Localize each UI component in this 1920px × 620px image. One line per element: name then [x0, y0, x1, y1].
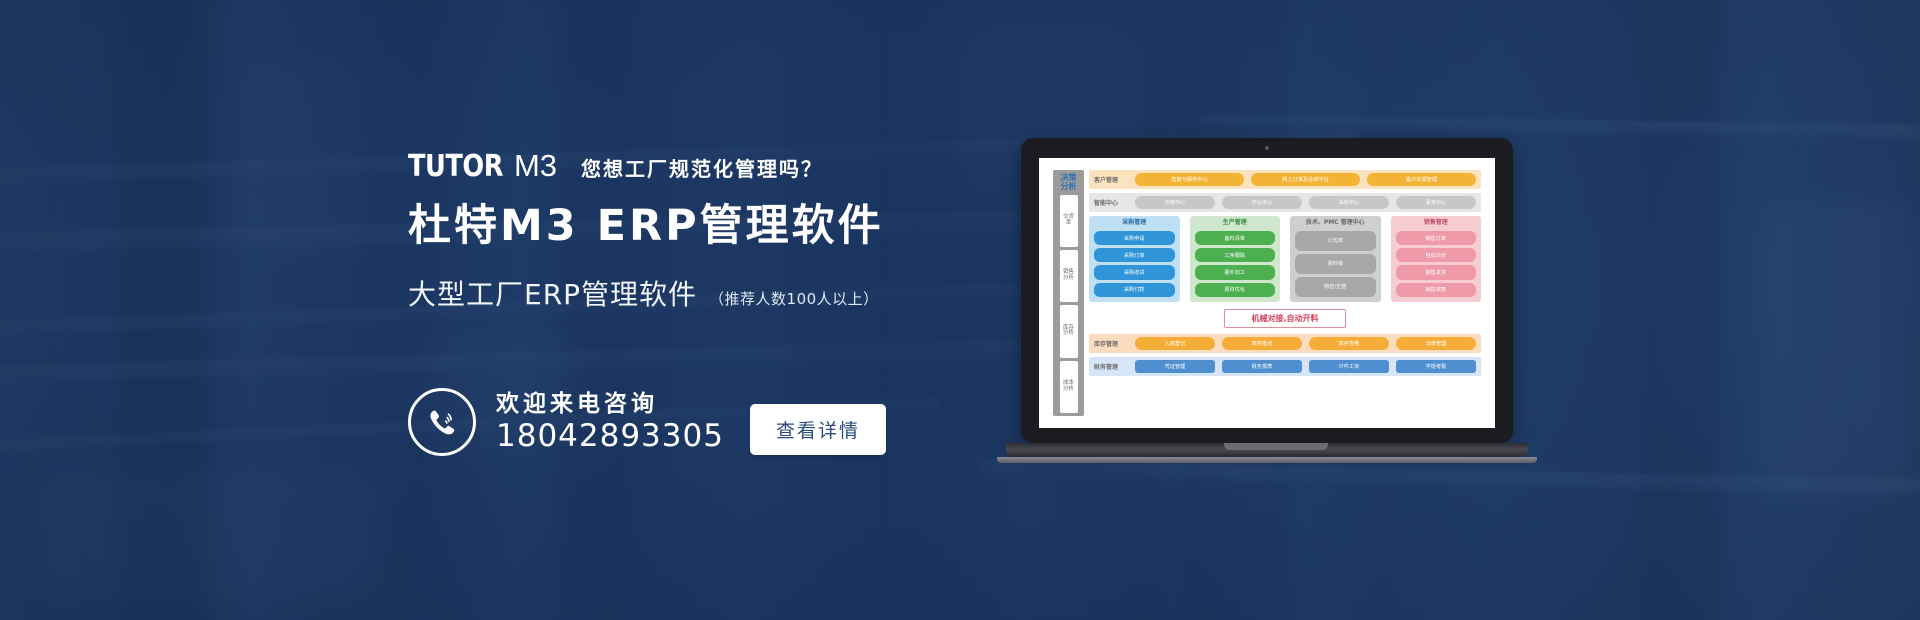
erp-column-item[interactable]: 采购订单 — [1094, 248, 1175, 262]
contact-text: 欢迎来电咨询 18042893305 — [496, 391, 724, 454]
erp-chip[interactable]: 凭证管理 — [1135, 360, 1215, 373]
erp-band-label: 智能中心 — [1094, 198, 1128, 207]
erp-chip[interactable]: 库存查看 — [1309, 337, 1389, 350]
erp-column-item[interactable]: 销售收款 — [1396, 283, 1477, 297]
erp-column-tech-pmc: 技术、PMC 管理中心 公式库 资料库 物控/生管 — [1290, 216, 1381, 302]
erp-column-production: 生产管理 备料清单 工序跟踪 委外加工 原材优化 — [1190, 216, 1281, 302]
erp-main: 客户管理 售前与服务中心 网上订单及业绩平台 客户资源管理 智能中心 决策中心 … — [1089, 170, 1481, 416]
erp-chip[interactable]: 决策中心 — [1135, 196, 1215, 209]
laptop-lid: 决策分析 交货率 销售分析 库存分析 成本分析 客户管理 售前与服务中心 — [1021, 138, 1513, 443]
contact-row: 欢迎来电咨询 18042893305 查看详情 — [408, 388, 886, 456]
erp-band-stock: 库存管理 入库登记 库存盘点 库存查看 出库管理 — [1089, 334, 1481, 353]
erp-sidebar-item[interactable]: 销售分析 — [1060, 250, 1078, 302]
phone-in-circle-icon — [408, 388, 476, 456]
erp-column-item[interactable]: 自动计价 — [1396, 248, 1477, 262]
erp-column-purchase: 采购管理 采购申请 采购订单 采购收货 采购付款 — [1089, 216, 1180, 302]
erp-band-label: 财务管理 — [1094, 362, 1128, 371]
hero-subline-note: （推荐人数100人以上） — [709, 288, 879, 309]
erp-band-label: 库存管理 — [1094, 339, 1128, 348]
hero-kicker: 您想工厂规范化管理吗？ — [581, 153, 823, 182]
erp-chip[interactable]: 事务中心 — [1396, 196, 1476, 209]
erp-column-item[interactable]: 销售发货 — [1396, 265, 1477, 279]
brand-logo-secondary: M3 — [514, 148, 557, 184]
erp-architecture-diagram: 决策分析 交货率 销售分析 库存分析 成本分析 客户管理 售前与服务中心 — [1053, 170, 1481, 416]
erp-column-title: 销售管理 — [1396, 220, 1477, 227]
erp-chip[interactable]: 库存盘点 — [1222, 337, 1302, 350]
contact-welcome-label: 欢迎来电咨询 — [496, 391, 724, 417]
erp-sidebar: 决策分析 交货率 销售分析 库存分析 成本分析 — [1053, 170, 1084, 416]
view-details-button[interactable]: 查看详情 — [750, 404, 886, 455]
erp-band-customer: 客户管理 售前与服务中心 网上订单及业绩平台 客户资源管理 — [1089, 170, 1481, 189]
erp-column-item[interactable]: 采购申请 — [1094, 231, 1175, 245]
hero-banner: TUTOR M3 您想工厂规范化管理吗？ 杜特M3 ERP管理软件 大型工厂ER… — [0, 0, 1920, 620]
hero-subline: 大型工厂ERP管理软件 — [408, 273, 697, 313]
brand-logo: TUTOR M3 — [408, 148, 557, 184]
hero-subline-row: 大型工厂ERP管理软件 （推荐人数100人以上） — [408, 273, 1048, 313]
erp-chip[interactable]: 财务报表 — [1222, 360, 1302, 373]
erp-sidebar-item[interactable]: 库存分析 — [1060, 305, 1078, 357]
erp-column-sales: 销售管理 销售订单 自动计价 销售发货 销售收款 — [1391, 216, 1482, 302]
erp-chip[interactable]: 采购中心 — [1309, 196, 1389, 209]
erp-band-label: 客户管理 — [1094, 175, 1128, 184]
erp-column-item[interactable]: 公式库 — [1295, 231, 1376, 251]
erp-column-item[interactable]: 销售订单 — [1396, 231, 1477, 245]
erp-sidebar-item[interactable]: 成本分析 — [1060, 361, 1078, 413]
erp-chip[interactable]: 客户资源管理 — [1367, 173, 1476, 186]
erp-chip[interactable]: 计件工资 — [1309, 360, 1389, 373]
erp-band-smart-center: 智能中心 决策中心 作业中心 采购中心 事务中心 — [1089, 193, 1481, 212]
erp-column-title: 采购管理 — [1094, 220, 1175, 227]
erp-chip[interactable]: 售前与服务中心 — [1135, 173, 1244, 186]
erp-callout: 机械对接,自动开料 — [1224, 309, 1345, 328]
erp-chip[interactable]: 学徒考勤 — [1396, 360, 1476, 373]
erp-columns: 采购管理 采购申请 采购订单 采购收货 采购付款 生产管理 备料清单 工序跟踪 — [1089, 216, 1481, 302]
laptop-foot — [997, 457, 1537, 463]
brand-kicker-row: TUTOR M3 您想工厂规范化管理吗？ — [408, 148, 1048, 182]
erp-sidebar-item[interactable]: 交货率 — [1060, 195, 1078, 247]
erp-column-title: 技术、PMC 管理中心 — [1295, 220, 1376, 227]
erp-chip[interactable]: 入库登记 — [1135, 337, 1215, 350]
erp-column-item[interactable]: 委外加工 — [1195, 265, 1276, 279]
erp-column-item[interactable]: 采购付款 — [1094, 283, 1175, 297]
erp-column-item[interactable]: 物控/生管 — [1295, 277, 1376, 297]
laptop-notch — [1224, 443, 1328, 450]
hero-text-block: TUTOR M3 您想工厂规范化管理吗？ 杜特M3 ERP管理软件 大型工厂ER… — [408, 148, 1048, 313]
erp-column-item[interactable]: 原材优化 — [1195, 283, 1276, 297]
erp-column-title: 生产管理 — [1195, 220, 1276, 227]
erp-chip[interactable]: 出库管理 — [1396, 337, 1476, 350]
erp-chip[interactable]: 作业中心 — [1222, 196, 1302, 209]
laptop-camera-icon — [1265, 146, 1269, 150]
erp-sidebar-title: 决策分析 — [1059, 174, 1079, 192]
laptop-screen: 决策分析 交货率 销售分析 库存分析 成本分析 客户管理 售前与服务中心 — [1039, 158, 1495, 428]
erp-column-item[interactable]: 采购收货 — [1094, 265, 1175, 279]
erp-column-item[interactable]: 资料库 — [1295, 254, 1376, 274]
brand-logo-primary: TUTOR — [408, 149, 503, 184]
erp-column-item[interactable]: 备料清单 — [1195, 231, 1276, 245]
erp-band-finance: 财务管理 凭证管理 财务报表 计件工资 学徒考勤 — [1089, 357, 1481, 376]
contact-phone-number[interactable]: 18042893305 — [496, 419, 724, 453]
erp-chip[interactable]: 网上订单及业绩平台 — [1251, 173, 1360, 186]
hero-headline: 杜特M3 ERP管理软件 — [408, 202, 1048, 251]
laptop-mockup: 决策分析 交货率 销售分析 库存分析 成本分析 客户管理 售前与服务中心 — [1006, 138, 1546, 478]
erp-column-item[interactable]: 工序跟踪 — [1195, 248, 1276, 262]
